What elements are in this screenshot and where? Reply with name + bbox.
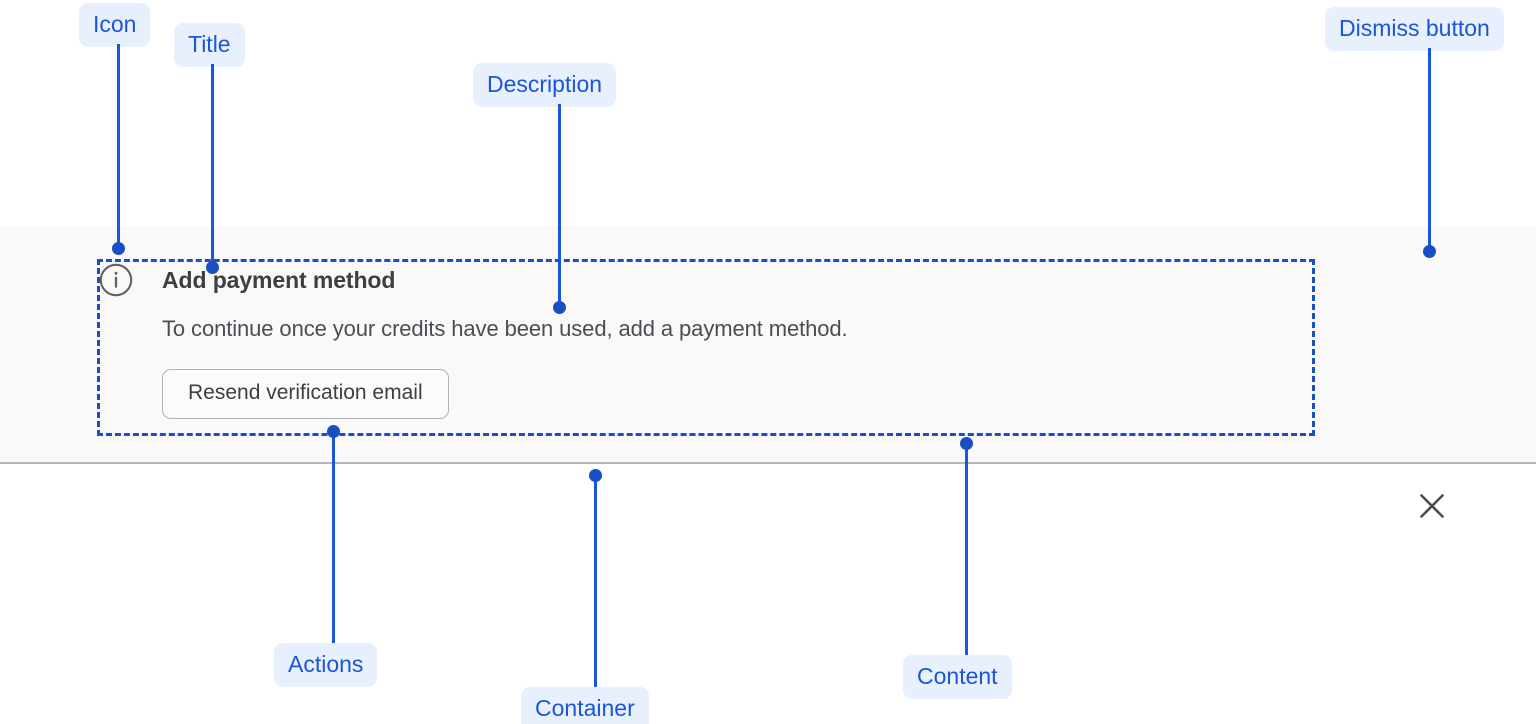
notification-text-column: Add payment method To continue once your… [133,259,1315,419]
notification-content: Add payment method To continue once your… [97,259,1315,436]
annotation-dismiss-button-leader [1428,48,1431,252]
notification-description: To continue once your credits have been … [162,295,1315,344]
close-icon [1414,488,1450,524]
annotation-content-leader [965,443,968,655]
annotation-description-label: Description [473,63,616,107]
annotation-title-label: Title [174,23,245,67]
notification-title: Add payment method [162,259,1315,295]
annotation-description-leader [558,104,561,308]
info-circle-icon [97,259,133,297]
notification-actions: Resend verification email [162,344,1315,419]
annotation-actions-dot [327,425,340,438]
annotation-actions-leader [332,436,335,643]
annotation-container-leader [594,480,597,687]
annotation-icon-dot [112,242,125,255]
resend-verification-email-button[interactable]: Resend verification email [162,369,449,419]
dismiss-button[interactable] [1414,488,1450,524]
annotation-title-leader [211,64,214,268]
annotation-dismiss-button-label: Dismiss button [1325,7,1504,51]
screenshot-root: Add payment method To continue once your… [0,0,1536,724]
annotation-dismiss-button-dot [1423,245,1436,258]
annotation-actions-label: Actions [274,643,377,687]
annotation-content-dot [960,437,973,450]
annotation-icon-label: Icon [79,3,150,47]
notification-banner-container: Add payment method To continue once your… [0,226,1536,464]
annotation-description-dot [553,301,566,314]
annotation-container-dot [589,469,602,482]
annotation-icon-leader [117,44,120,248]
annotation-container-label: Container [521,687,649,724]
annotation-title-dot [206,261,219,274]
annotation-content-label: Content [903,655,1012,699]
